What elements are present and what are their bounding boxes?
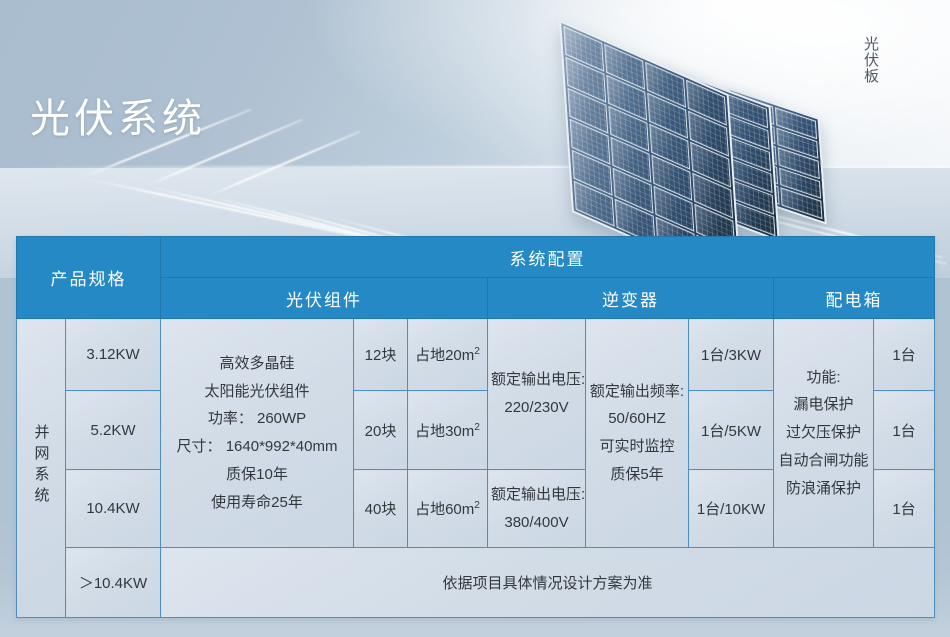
cell-voltage-1: 额定输出电压: 220/230V bbox=[488, 319, 586, 470]
voltage-value: 220/230V bbox=[491, 394, 582, 422]
solar-panel-illustration bbox=[560, 18, 880, 233]
frequency-line: 50/60HZ bbox=[589, 405, 685, 433]
system-type-text: 并网系统 bbox=[34, 424, 49, 508]
cell-capacity-4: ＞10.4KW bbox=[66, 548, 161, 618]
cell-inverter-unit-3: 1台/10KW bbox=[689, 470, 774, 548]
frequency-line: 额定输出频率: bbox=[589, 378, 685, 406]
cell-box-count-2: 1台 bbox=[874, 391, 935, 470]
cell-module-count-1: 12块 bbox=[354, 319, 408, 391]
voltage-label: 额定输出电压: bbox=[491, 366, 582, 394]
spec-line: 太阳能光伏组件 bbox=[164, 378, 350, 406]
table-header-row-1: 产品规格 系统配置 bbox=[17, 237, 935, 278]
cell-capacity-2: 5.2KW bbox=[66, 391, 161, 470]
cell-land-area-3: 占地60m2 bbox=[408, 470, 488, 548]
header-inverter: 逆变器 bbox=[488, 278, 774, 319]
cell-land-area-2: 占地30m2 bbox=[408, 391, 488, 470]
cell-capacity-3: 10.4KW bbox=[66, 470, 161, 548]
cell-frequency: 额定输出频率: 50/60HZ 可实时监控 质保5年 bbox=[586, 319, 689, 548]
voltage-label: 额定输出电压: bbox=[491, 481, 582, 509]
spec-line: 尺寸： 1640*992*40mm bbox=[164, 433, 350, 461]
cell-voltage-2: 额定输出电压: 380/400V bbox=[488, 470, 586, 548]
box-function-line: 漏电保护 bbox=[777, 391, 870, 419]
cell-capacity-1: 3.12KW bbox=[66, 319, 161, 391]
table-row: 并网系统 3.12KW 高效多晶硅 太阳能光伏组件 功率： 260WP 尺寸： … bbox=[17, 319, 935, 391]
cell-module-count-2: 20块 bbox=[354, 391, 408, 470]
cell-box-count-1: 1台 bbox=[874, 319, 935, 391]
frequency-line: 质保5年 bbox=[589, 461, 685, 489]
spec-line: 使用寿命25年 bbox=[164, 489, 350, 517]
spec-line: 功率： 260WP bbox=[164, 405, 350, 433]
cell-footer-note: 依据项目具体情况设计方案为准 bbox=[161, 548, 935, 618]
box-function-line: 过欠压保护 bbox=[777, 419, 870, 447]
table-row: ＞10.4KW 依据项目具体情况设计方案为准 bbox=[17, 548, 935, 618]
header-pv-module: 光伏组件 bbox=[161, 278, 488, 319]
cell-module-count-3: 40块 bbox=[354, 470, 408, 548]
land-area-text: 占地20m bbox=[415, 347, 474, 364]
cell-inverter-unit-2: 1台/5KW bbox=[689, 391, 774, 470]
land-area-unit: 2 bbox=[474, 500, 480, 511]
frequency-line: 可实时监控 bbox=[589, 433, 685, 461]
cell-land-area-1: 占地20m2 bbox=[408, 319, 488, 391]
box-function-line: 自动合闸功能 bbox=[777, 447, 870, 475]
land-area-unit: 2 bbox=[474, 422, 480, 433]
specification-table: 产品规格 系统配置 光伏组件 逆变器 配电箱 并网系统 3.12KW 高效多晶硅… bbox=[16, 236, 935, 618]
land-area-text: 占地60m bbox=[415, 501, 474, 518]
voltage-value: 380/400V bbox=[491, 509, 582, 537]
cell-inverter-unit-1: 1台/3KW bbox=[689, 319, 774, 391]
cell-box-count-3: 1台 bbox=[874, 470, 935, 548]
page-title: 光伏系统 bbox=[30, 86, 206, 144]
land-area-text: 占地30m bbox=[415, 423, 474, 440]
cell-system-type: 并网系统 bbox=[17, 319, 66, 618]
spec-line: 质保10年 bbox=[164, 461, 350, 489]
cell-box-functions: 功能: 漏电保护 过欠压保护 自动合闸功能 防浪涌保护 bbox=[774, 319, 874, 548]
box-function-line: 功能: bbox=[777, 364, 870, 392]
land-area-unit: 2 bbox=[474, 346, 480, 357]
header-system-config: 系统配置 bbox=[161, 237, 935, 278]
box-function-line: 防浪涌保护 bbox=[777, 475, 870, 503]
header-distribution-box: 配电箱 bbox=[774, 278, 935, 319]
solar-panel-label: 光伏板 bbox=[859, 36, 881, 84]
cell-pv-module-spec: 高效多晶硅 太阳能光伏组件 功率： 260WP 尺寸： 1640*992*40m… bbox=[161, 319, 354, 548]
header-product-spec: 产品规格 bbox=[17, 237, 161, 319]
spec-line: 高效多晶硅 bbox=[164, 350, 350, 378]
